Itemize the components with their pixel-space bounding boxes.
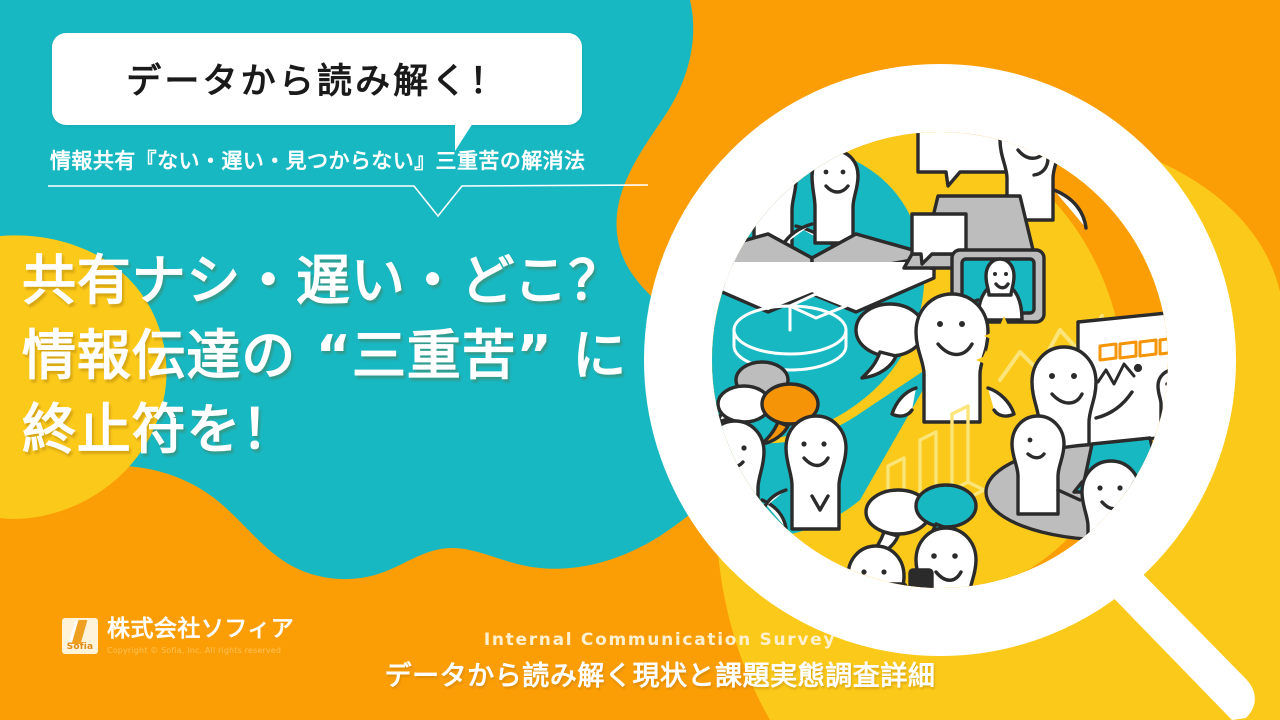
company-logo: Sofia 株式会社ソフィア Copyright © Sofia, Inc. A… [62,616,294,655]
header-callout-box: データから読み解く！ [52,33,582,125]
logo-text-block: 株式会社ソフィア Copyright © Sofia, Inc. All rig… [107,616,294,655]
headline-line-1: 共有ナシ・遅い・どこ？ [22,244,627,319]
headline-line-3: 終止符を！ [22,393,627,468]
slide-canvas: データから読み解く！ 情報共有『ない・遅い・見つからない』三重苦の解消法 共有ナ… [0,0,1280,720]
header-callout-label: データから読み解く！ [126,53,508,104]
headline-line-2: 情報伝達の “三重苦” に [22,319,627,394]
page-title: 共有ナシ・遅い・どこ？ 情報伝達の “三重苦” に 終止符を！ [22,244,627,468]
logo-mark-label: Sofia [62,642,98,652]
subtitle-text: 情報共有『ない・遅い・見つからない』三重苦の解消法 [50,145,650,175]
sofia-logo-mark-icon: Sofia [62,618,98,654]
copyright-text: Copyright © Sofia, Inc. All rights reser… [107,646,294,655]
caption-english: Internal Communication Survey [340,630,980,650]
bottom-caption: Internal Communication Survey データから読み解く現… [340,630,980,693]
company-name: 株式会社ソフィア [107,616,294,644]
caption-japanese: データから読み解く現状と課題実態調査詳細 [340,654,980,693]
